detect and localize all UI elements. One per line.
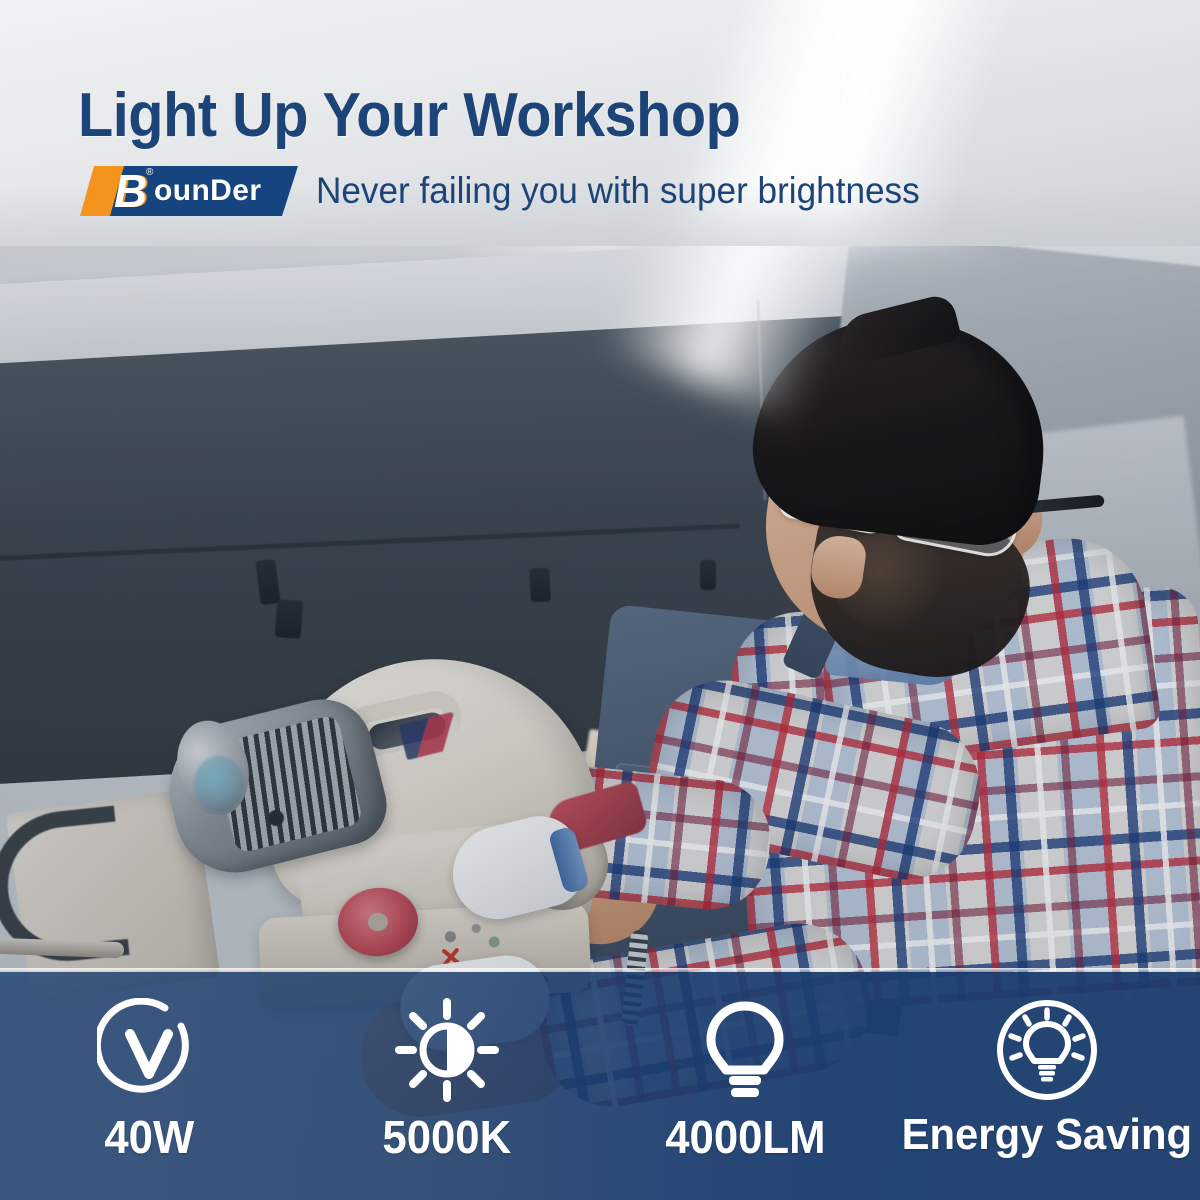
bounder-logo: B ® ounDer — [80, 166, 298, 216]
logo-initial: B — [114, 169, 147, 213]
feature-color-temperature: 5000K — [298, 972, 596, 1200]
spot-light-head — [275, 599, 304, 639]
feature-bar: 40W — [0, 972, 1200, 1200]
voltage-circle-icon — [97, 998, 201, 1102]
logo-wordmark: ounDer — [154, 176, 261, 206]
brand-tagline-row: B ® ounDer Never failing you with super … — [80, 166, 952, 216]
feature-wattage: 40W — [0, 972, 298, 1200]
miter-saw — [150, 660, 770, 1000]
saw-motor-reflection — [194, 756, 244, 812]
energy-saving-bulb-icon — [995, 998, 1099, 1102]
tagline: Never failing you with super brightness — [316, 170, 920, 212]
feature-label: 5000K — [383, 1110, 512, 1164]
feature-label: Energy Saving — [902, 1110, 1192, 1160]
product-marketing-image: Light Up Your Workshop B ® ounDer Never … — [0, 0, 1200, 1200]
feature-energy-saving: Energy Saving — [894, 972, 1200, 1200]
page-title: Light Up Your Workshop — [78, 80, 740, 151]
saw-motor-hole — [268, 810, 284, 826]
registered-trademark-icon: ® — [146, 168, 153, 178]
feature-lumens: 4000LM — [596, 972, 894, 1200]
brightness-sun-icon — [395, 998, 499, 1102]
light-bulb-icon — [693, 998, 797, 1102]
spot-light-head — [529, 567, 551, 602]
vise-rod — [0, 938, 124, 959]
feature-label: 40W — [104, 1110, 194, 1164]
feature-label: 4000LM — [665, 1110, 825, 1164]
